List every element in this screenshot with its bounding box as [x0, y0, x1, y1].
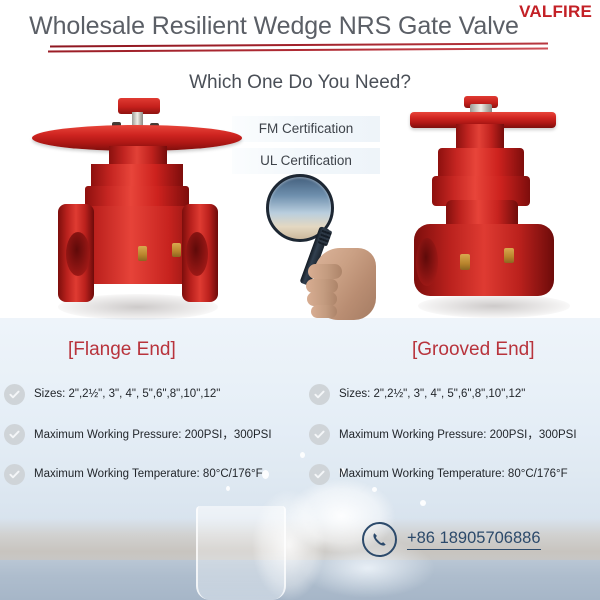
- spec-text: Maximum Working Temperature: 80°C/176°F: [34, 468, 263, 480]
- certification-list: FM Certification UL Certification: [232, 116, 380, 180]
- contact-phone[interactable]: +86 18905706886: [362, 522, 541, 557]
- product-image-grooved-end: [398, 96, 588, 320]
- spec-item: Maximum Working Temperature: 80°C/176°F: [4, 461, 304, 487]
- spec-item: Sizes: 2",2½", 3", 4", 5",6",8",10",12": [4, 381, 304, 407]
- spec-item: Maximum Working Temperature: 80°C/176°F: [309, 461, 600, 487]
- spec-text: Sizes: 2",2½", 3", 4", 5",6",8",10",12": [339, 388, 525, 400]
- spec-text: Maximum Working Pressure: 200PSI，300PSI: [34, 426, 272, 442]
- check-circle-icon: [309, 384, 330, 405]
- spec-item: Maximum Working Pressure: 200PSI，300PSI: [309, 421, 600, 447]
- spec-text: Maximum Working Pressure: 200PSI，300PSI: [339, 426, 577, 442]
- spec-item: Sizes: 2",2½", 3", 4", 5",6",8",10",12": [309, 381, 600, 407]
- page-title: Wholesale Resilient Wedge NRS Gate Valve: [0, 12, 548, 41]
- spec-list-grooved-end: Sizes: 2",2½", 3", 4", 5",6",8",10",12" …: [309, 381, 600, 501]
- certification-badge-ul: UL Certification: [232, 148, 380, 174]
- water-glass-graphic: [196, 506, 286, 600]
- spec-text: Maximum Working Temperature: 80°C/176°F: [339, 468, 568, 480]
- spec-item: Maximum Working Pressure: 200PSI，300PSI: [4, 421, 304, 447]
- page-subtitle: Which One Do You Need?: [0, 72, 600, 94]
- magnifying-glass-in-hand-icon: [262, 172, 378, 320]
- check-circle-icon: [309, 424, 330, 445]
- product-image-flange-end: [30, 98, 245, 320]
- section-heading-grooved-end: [Grooved End]: [412, 339, 535, 361]
- section-heading-flange-end: [Flange End]: [68, 339, 176, 361]
- check-circle-icon: [4, 384, 25, 405]
- background-bottom-band: [0, 560, 600, 600]
- phone-number[interactable]: +86 18905706886: [407, 529, 541, 550]
- product-poster: VALFIRE Wholesale Resilient Wedge NRS Ga…: [0, 0, 600, 600]
- title-divider: [48, 44, 548, 52]
- check-circle-icon: [4, 424, 25, 445]
- check-circle-icon: [309, 464, 330, 485]
- spec-text: Sizes: 2",2½", 3", 4", 5",6",8",10",12": [34, 388, 220, 400]
- certification-badge-fm: FM Certification: [232, 116, 380, 142]
- check-circle-icon: [4, 464, 25, 485]
- phone-icon: [362, 522, 397, 557]
- spec-list-flange-end: Sizes: 2",2½", 3", 4", 5",6",8",10",12" …: [4, 381, 304, 501]
